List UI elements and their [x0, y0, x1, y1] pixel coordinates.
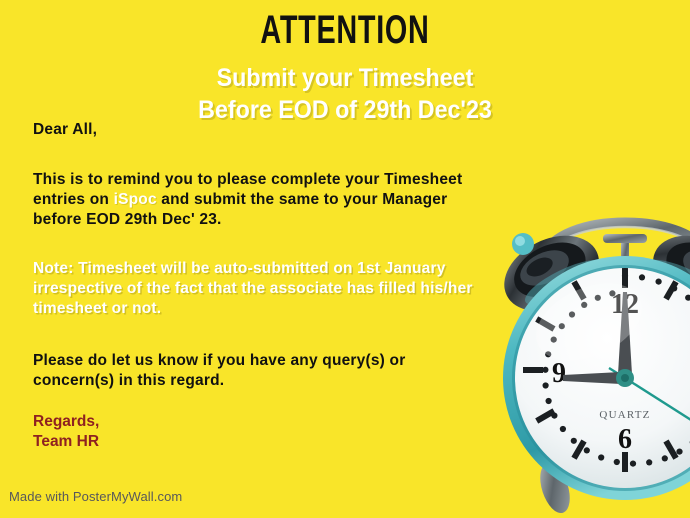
poster-body: Dear All, This is to remind you to pleas… — [33, 120, 473, 391]
query-paragraph: Please do let us know if you have any qu… — [33, 351, 473, 391]
page-title: ATTENTION — [97, 10, 594, 50]
svg-text:QUARTZ: QUARTZ — [599, 409, 650, 421]
postermywall-watermark: Made with PosterMyWall.com — [9, 489, 182, 504]
signature-block: Regards, Team HR — [33, 412, 99, 452]
poster-subtitle: Submit your Timesheet Before EOD of 29th… — [24, 62, 666, 126]
alarm-clock-icon: 12 9 6 QUARTZ — [497, 196, 690, 518]
note-paragraph: Note: Timesheet will be auto-submitted o… — [33, 259, 473, 319]
greeting-text: Dear All, — [33, 120, 473, 140]
svg-text:12: 12 — [611, 289, 639, 320]
main-paragraph: This is to remind you to please complete… — [33, 170, 473, 230]
svg-text:9: 9 — [552, 358, 566, 389]
poster-canvas: 12 9 6 QUARTZ ATTENTION Submit your Time… — [0, 0, 690, 518]
ispoc-link[interactable]: iSpoc — [114, 191, 157, 208]
svg-text:6: 6 — [618, 424, 632, 455]
